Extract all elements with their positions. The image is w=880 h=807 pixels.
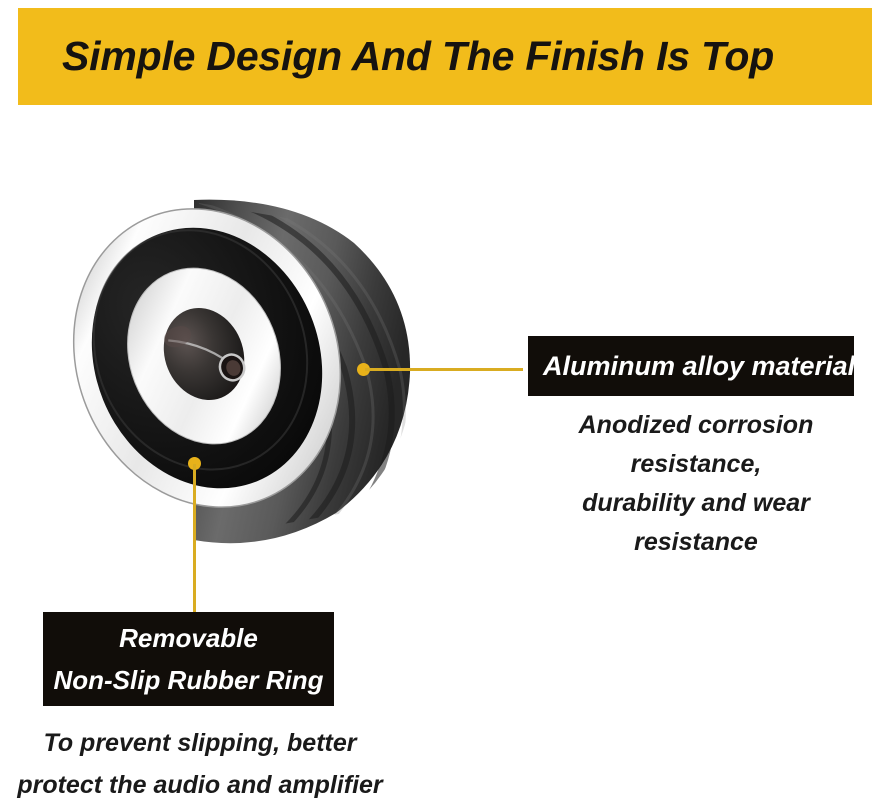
page-title: Simple Design And The Finish Is Top [62, 33, 774, 80]
callout-label-aluminum: Aluminum alloy material [543, 351, 855, 382]
callout-description-line: protect the audio and amplifier [0, 764, 400, 806]
callout-description-line: To prevent slipping, better [0, 722, 400, 764]
callout-description-line: durability and wear resistance [522, 484, 870, 562]
callout-leader-line-rubber-ring [193, 464, 196, 614]
header-banner: Simple Design And The Finish Is Top [18, 8, 872, 105]
product-infographic: Simple Design And The Finish Is Top [0, 0, 880, 807]
callout-label-rubber-ring-line1: Removable [119, 617, 258, 659]
product-photo-speaker-isolation-foot [44, 168, 444, 550]
callout-box-aluminum: Aluminum alloy material [528, 336, 854, 396]
callout-box-rubber-ring: Removable Non-Slip Rubber Ring [43, 612, 334, 706]
callout-description-aluminum: Anodized corrosion resistance, durabilit… [522, 406, 870, 562]
callout-leader-line-aluminum [365, 368, 523, 371]
callout-description-rubber-ring: To prevent slipping, better protect the … [0, 722, 400, 806]
callout-description-line: Anodized corrosion resistance, [522, 406, 870, 484]
callout-label-rubber-ring-line2: Non-Slip Rubber Ring [53, 659, 323, 701]
speaker-isolation-foot-icon [44, 168, 444, 550]
